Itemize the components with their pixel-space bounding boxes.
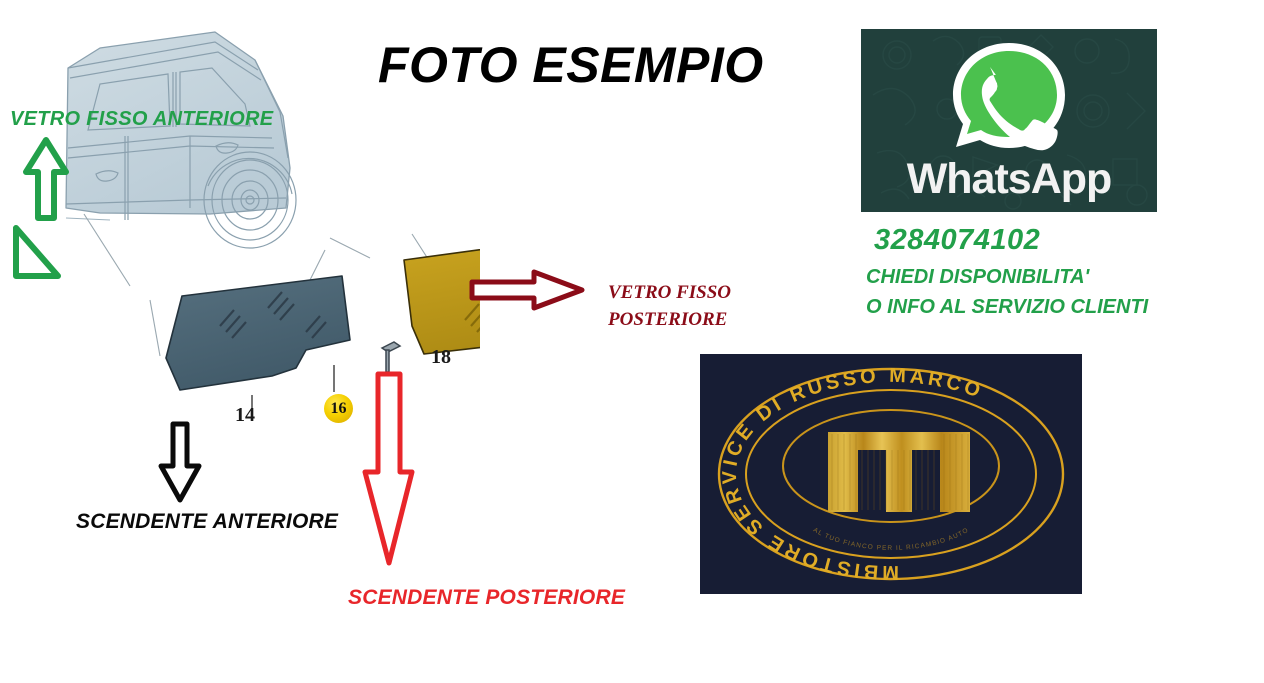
contact-line-availability: CHIEDI DISPONIBILITA' — [866, 266, 1089, 289]
whatsapp-icon — [943, 35, 1075, 168]
part-number-16-badge: 16 — [324, 394, 353, 423]
label-scendente-anteriore: SCENDENTE ANTERIORE — [76, 510, 338, 534]
glass-parts-exploded-view — [120, 230, 480, 415]
down-arrow-red-icon — [360, 370, 416, 573]
right-arrow-dark-red-icon — [468, 268, 586, 317]
down-arrow-black-icon — [157, 420, 203, 509]
up-arrow-green-icon — [22, 136, 70, 227]
contact-line-customer-service: O INFO AL SERVIZIO CLIENTI — [866, 296, 1148, 319]
part-14-shape — [166, 276, 350, 390]
label-vetro-fisso-anteriore: VETRO FISSO ANTERIORE — [10, 108, 273, 131]
part-number-18: 18 — [431, 346, 451, 369]
triangle-green-icon — [8, 222, 64, 289]
label-vetro-fisso-posteriore: VETRO FISSO POSTERIORE — [608, 280, 731, 334]
part-17-shape — [382, 342, 400, 372]
part-number-16-label: 16 — [324, 394, 353, 423]
whatsapp-banner: WhatsApp — [861, 29, 1157, 212]
label-vetro-fisso-posteriore-line2: POSTERIORE — [608, 307, 731, 334]
label-vetro-fisso-posteriore-line1: VETRO FISSO — [608, 280, 731, 307]
label-scendente-posteriore: SCENDENTE POSTERIORE — [348, 586, 625, 610]
part-number-14: 14 — [235, 404, 255, 427]
shop-logo-mricambistore: MRICAMBISTORE SERVICE DI RUSSO MARCO AL … — [700, 354, 1082, 594]
whatsapp-wordmark: WhatsApp — [861, 155, 1157, 204]
phone-number[interactable]: 3284074102 — [874, 224, 1040, 257]
shop-logo-monogram — [828, 432, 970, 512]
page-title: FOTO ESEMPIO — [378, 36, 764, 94]
